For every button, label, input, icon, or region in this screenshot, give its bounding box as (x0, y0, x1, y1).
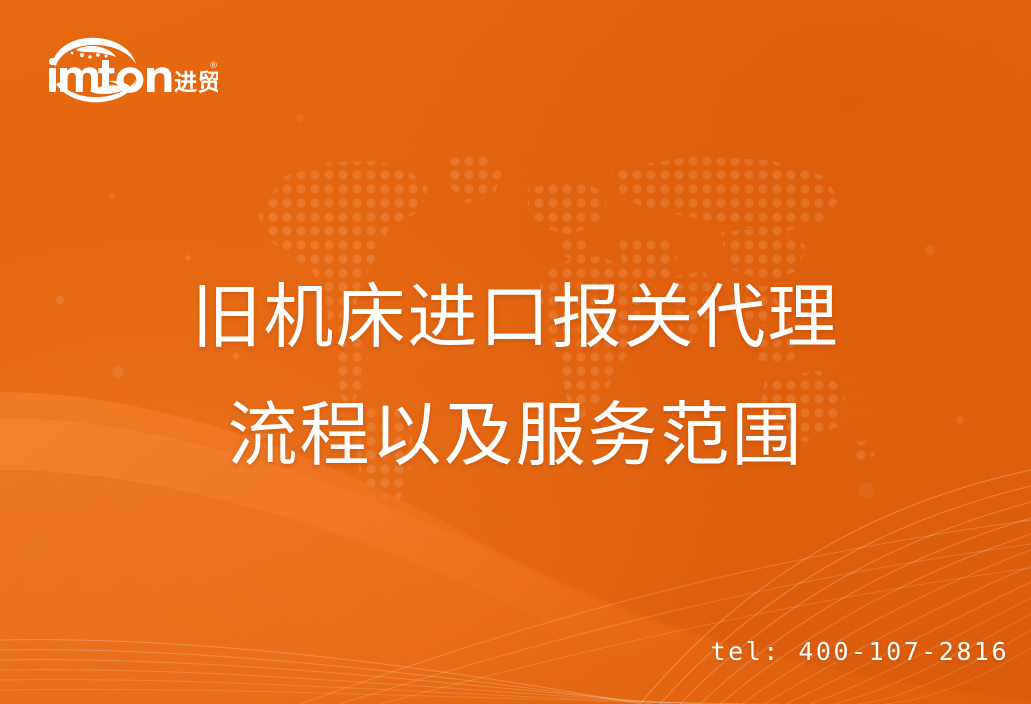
headline-line-1: 旧机床进口报关代理 (0, 258, 1031, 376)
logo-chinese-name: 进贸通 (174, 70, 218, 96)
trademark-symbol: ® (209, 61, 218, 71)
headline-line-2: 流程以及服务范围 (0, 376, 1031, 494)
brand-logo[interactable]: 进贸通 ® (46, 34, 218, 106)
contact-phone[interactable]: tel: 400-107-2816 (711, 637, 1009, 666)
page-title: 旧机床进口报关代理 流程以及服务范围 (0, 258, 1031, 494)
promo-banner: 进贸通 ® 旧机床进口报关代理 流程以及服务范围 tel: 400-107-28… (0, 0, 1031, 704)
